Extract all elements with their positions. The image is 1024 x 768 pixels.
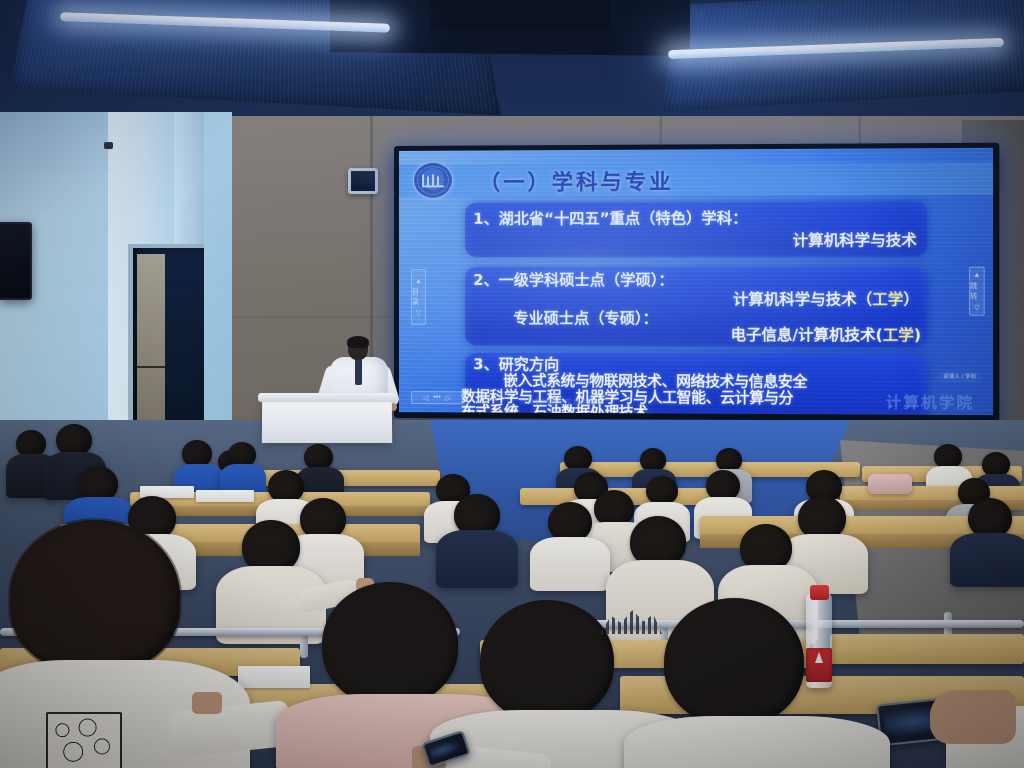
slide-watermark: 讲课人 / 学科 [937,371,982,382]
desk-row-b3 [830,634,1024,664]
nav-up-icon[interactable]: ▲ [415,277,422,284]
student-head [664,598,804,726]
slide-line-tail: ) [914,326,921,344]
ppt-nav-right[interactable]: ▲ 跳转 ▽ [969,267,985,316]
wall-monitor[interactable] [0,222,32,300]
bottle-cap [810,585,829,600]
nav-menu-icon[interactable]: 目录 [412,287,425,307]
student-body [530,537,610,591]
ceiling-recess-inner [430,0,610,30]
door-seam [137,366,165,368]
presenter-hair [347,336,369,348]
notebook-paper [238,666,310,688]
slide-line: 专业硕士点（专硕）： [513,311,657,326]
student-head [646,476,678,505]
tshirt-graphic [46,712,122,768]
slide-title: （一）学科与专业 [479,166,674,197]
slide-line-tail: ） [903,290,919,308]
slide-line-text: 计算机科学与技术（ [733,290,872,308]
lecture-hall-scene: （一）学科与专业 1、湖北省“十四五”重点（特色）学科： 计算机科学与技术 2、… [0,0,1024,768]
student-hand [930,690,1016,744]
slide-line: 3、研究方向 [473,357,559,372]
ppt-nav-left[interactable]: ▲ 目录 ▽ [411,269,426,325]
student-head [480,600,614,722]
slide-canvas: （一）学科与专业 1、湖北省“十四五”重点（特色）学科： 计算机科学与技术 2、… [399,148,993,415]
pink-bag [868,474,912,494]
student-head [548,502,592,542]
ceiling-camera-icon [104,142,113,149]
nav-down-icon[interactable]: ▽ [416,309,421,317]
next-slide-icon[interactable]: ▷ [446,394,451,402]
slide-line: 计算机科学与技术（工学） [733,292,919,307]
lectern-top [258,393,396,402]
presenter-tie [355,359,362,385]
slide-block-2: 2、一级学科硕士点（学硕）： 计算机科学与技术（工学） 专业硕士点（专硕）： 电… [465,267,927,347]
lectern [262,397,392,443]
student-body [436,530,518,588]
slide-line-highlight: 工学 [872,290,903,308]
more-options-icon[interactable]: ••• [433,394,440,401]
slide-subfooter: 计算机科学与技术学院 [519,397,595,407]
slide-footer: 计算机学院 [886,391,975,413]
slide-block-1: 1、湖北省“十四五”重点（特色）学科： 计算机科学与技术 [465,201,927,257]
led-display[interactable]: （一）学科与专业 1、湖北省“十四五”重点（特色）学科： 计算机科学与技术 2、… [394,143,999,422]
slide-line-highlight: 工学 [883,326,914,344]
student-head [16,430,46,457]
student-head [10,520,180,672]
wall-speaker-left [348,168,378,194]
student-hand [192,692,222,714]
student-head [322,582,458,706]
student-head [182,440,212,467]
prev-slide-icon[interactable]: ◁ [423,394,428,402]
slide-line: 计算机科学与技术 [793,233,917,248]
tshirt-graphic [600,600,662,646]
nav-jump-icon[interactable]: 跳转 [970,280,984,300]
university-seal-icon [413,162,453,199]
slide-line: 1、湖北省“十四五”重点（特色）学科： [473,211,747,227]
water-bottle-label [806,648,832,682]
ppt-nav-bottom[interactable]: ◁ ••• ▷ [411,391,463,404]
left-wall-shadow [0,112,120,232]
nav-down-icon[interactable]: ▽ [974,303,980,311]
slide-line: 电子信息/计算机技术(工学) [731,328,921,344]
nav-up-icon[interactable]: ▲ [973,271,980,278]
notebook-paper [196,490,254,502]
student-body [950,533,1024,587]
slide-line: 2、一级学科硕士点（学硕）： [473,273,673,288]
student-head [968,498,1012,538]
slide-line-text: 电子信息/计算机技术( [731,326,883,345]
student-body [624,716,890,768]
